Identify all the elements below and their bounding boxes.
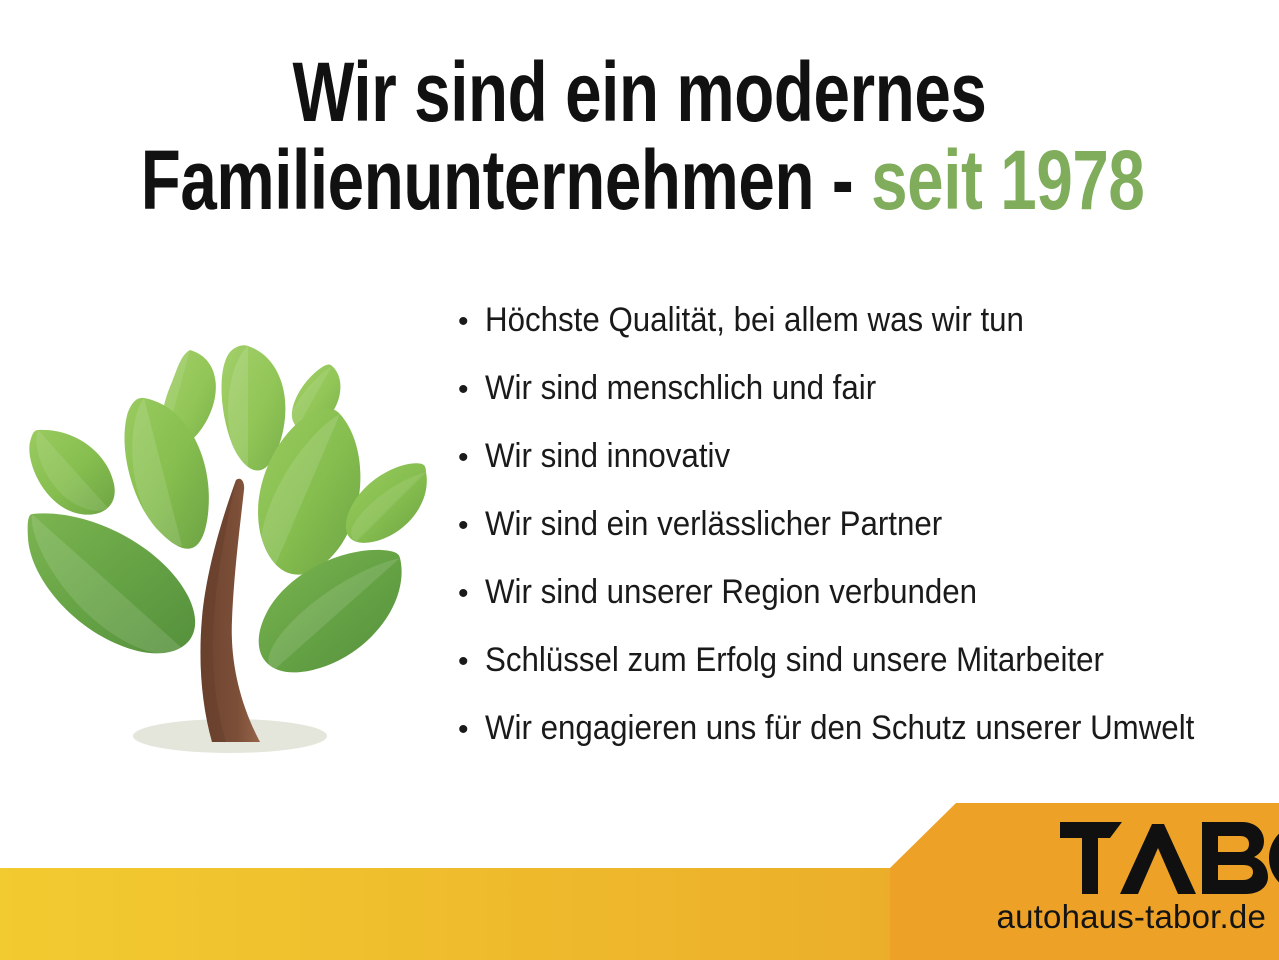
list-item: • Wir sind unserer Region verbunden bbox=[455, 572, 1275, 640]
tabor-logo[interactable] bbox=[1060, 822, 1279, 894]
list-item: • Wir sind innovativ bbox=[455, 436, 1275, 504]
list-item-label: Wir sind ein verlässlicher Partner bbox=[485, 504, 942, 544]
list-item-label: Wir sind unserer Region verbunden bbox=[485, 572, 977, 612]
list-item-label: Wir sind menschlich und fair bbox=[485, 368, 876, 408]
slide-canvas: Wir sind ein modernes Familienunternehme… bbox=[0, 0, 1279, 960]
page-title: Wir sind ein modernes Familienunternehme… bbox=[0, 48, 1279, 224]
bullet-icon: • bbox=[455, 443, 485, 473]
list-item-label: Wir sind innovativ bbox=[485, 436, 730, 476]
list-item: • Schlüssel zum Erfolg sind unsere Mitar… bbox=[455, 640, 1275, 708]
list-item: • Wir sind menschlich und fair bbox=[455, 368, 1275, 436]
list-item: • Wir sind ein verlässlicher Partner bbox=[455, 504, 1275, 572]
headline-accent-since-year: seit 1978 bbox=[871, 133, 1144, 227]
headline-line-2: Familienunternehmen - seit 1978 bbox=[141, 136, 1139, 224]
list-item: • Wir engagieren uns für den Schutz unse… bbox=[455, 708, 1275, 776]
tree-illustration bbox=[22, 332, 442, 764]
list-item-label: Höchste Qualität, bei allem was wir tun bbox=[485, 300, 1024, 340]
leaf-left-mid bbox=[29, 430, 114, 515]
headline-line-2-prefix: Familienunternehmen - bbox=[141, 133, 871, 227]
value-bullet-list: • Höchste Qualität, bei allem was wir tu… bbox=[455, 300, 1275, 776]
list-item: • Höchste Qualität, bei allem was wir tu… bbox=[455, 300, 1275, 368]
tree-trunk bbox=[200, 479, 260, 742]
headline-line-1: Wir sind ein modernes bbox=[141, 48, 1139, 136]
bullet-icon: • bbox=[455, 647, 485, 677]
list-item-label: Schlüssel zum Erfolg sind unsere Mitarbe… bbox=[485, 640, 1104, 680]
website-url[interactable]: autohaus-tabor.de bbox=[890, 898, 1266, 936]
bullet-icon: • bbox=[455, 579, 485, 609]
bullet-icon: • bbox=[455, 715, 485, 745]
bullet-icon: • bbox=[455, 375, 485, 405]
bullet-icon: • bbox=[455, 307, 485, 337]
bullet-icon: • bbox=[455, 511, 485, 541]
list-item-label: Wir engagieren uns für den Schutz unsere… bbox=[485, 708, 1194, 748]
